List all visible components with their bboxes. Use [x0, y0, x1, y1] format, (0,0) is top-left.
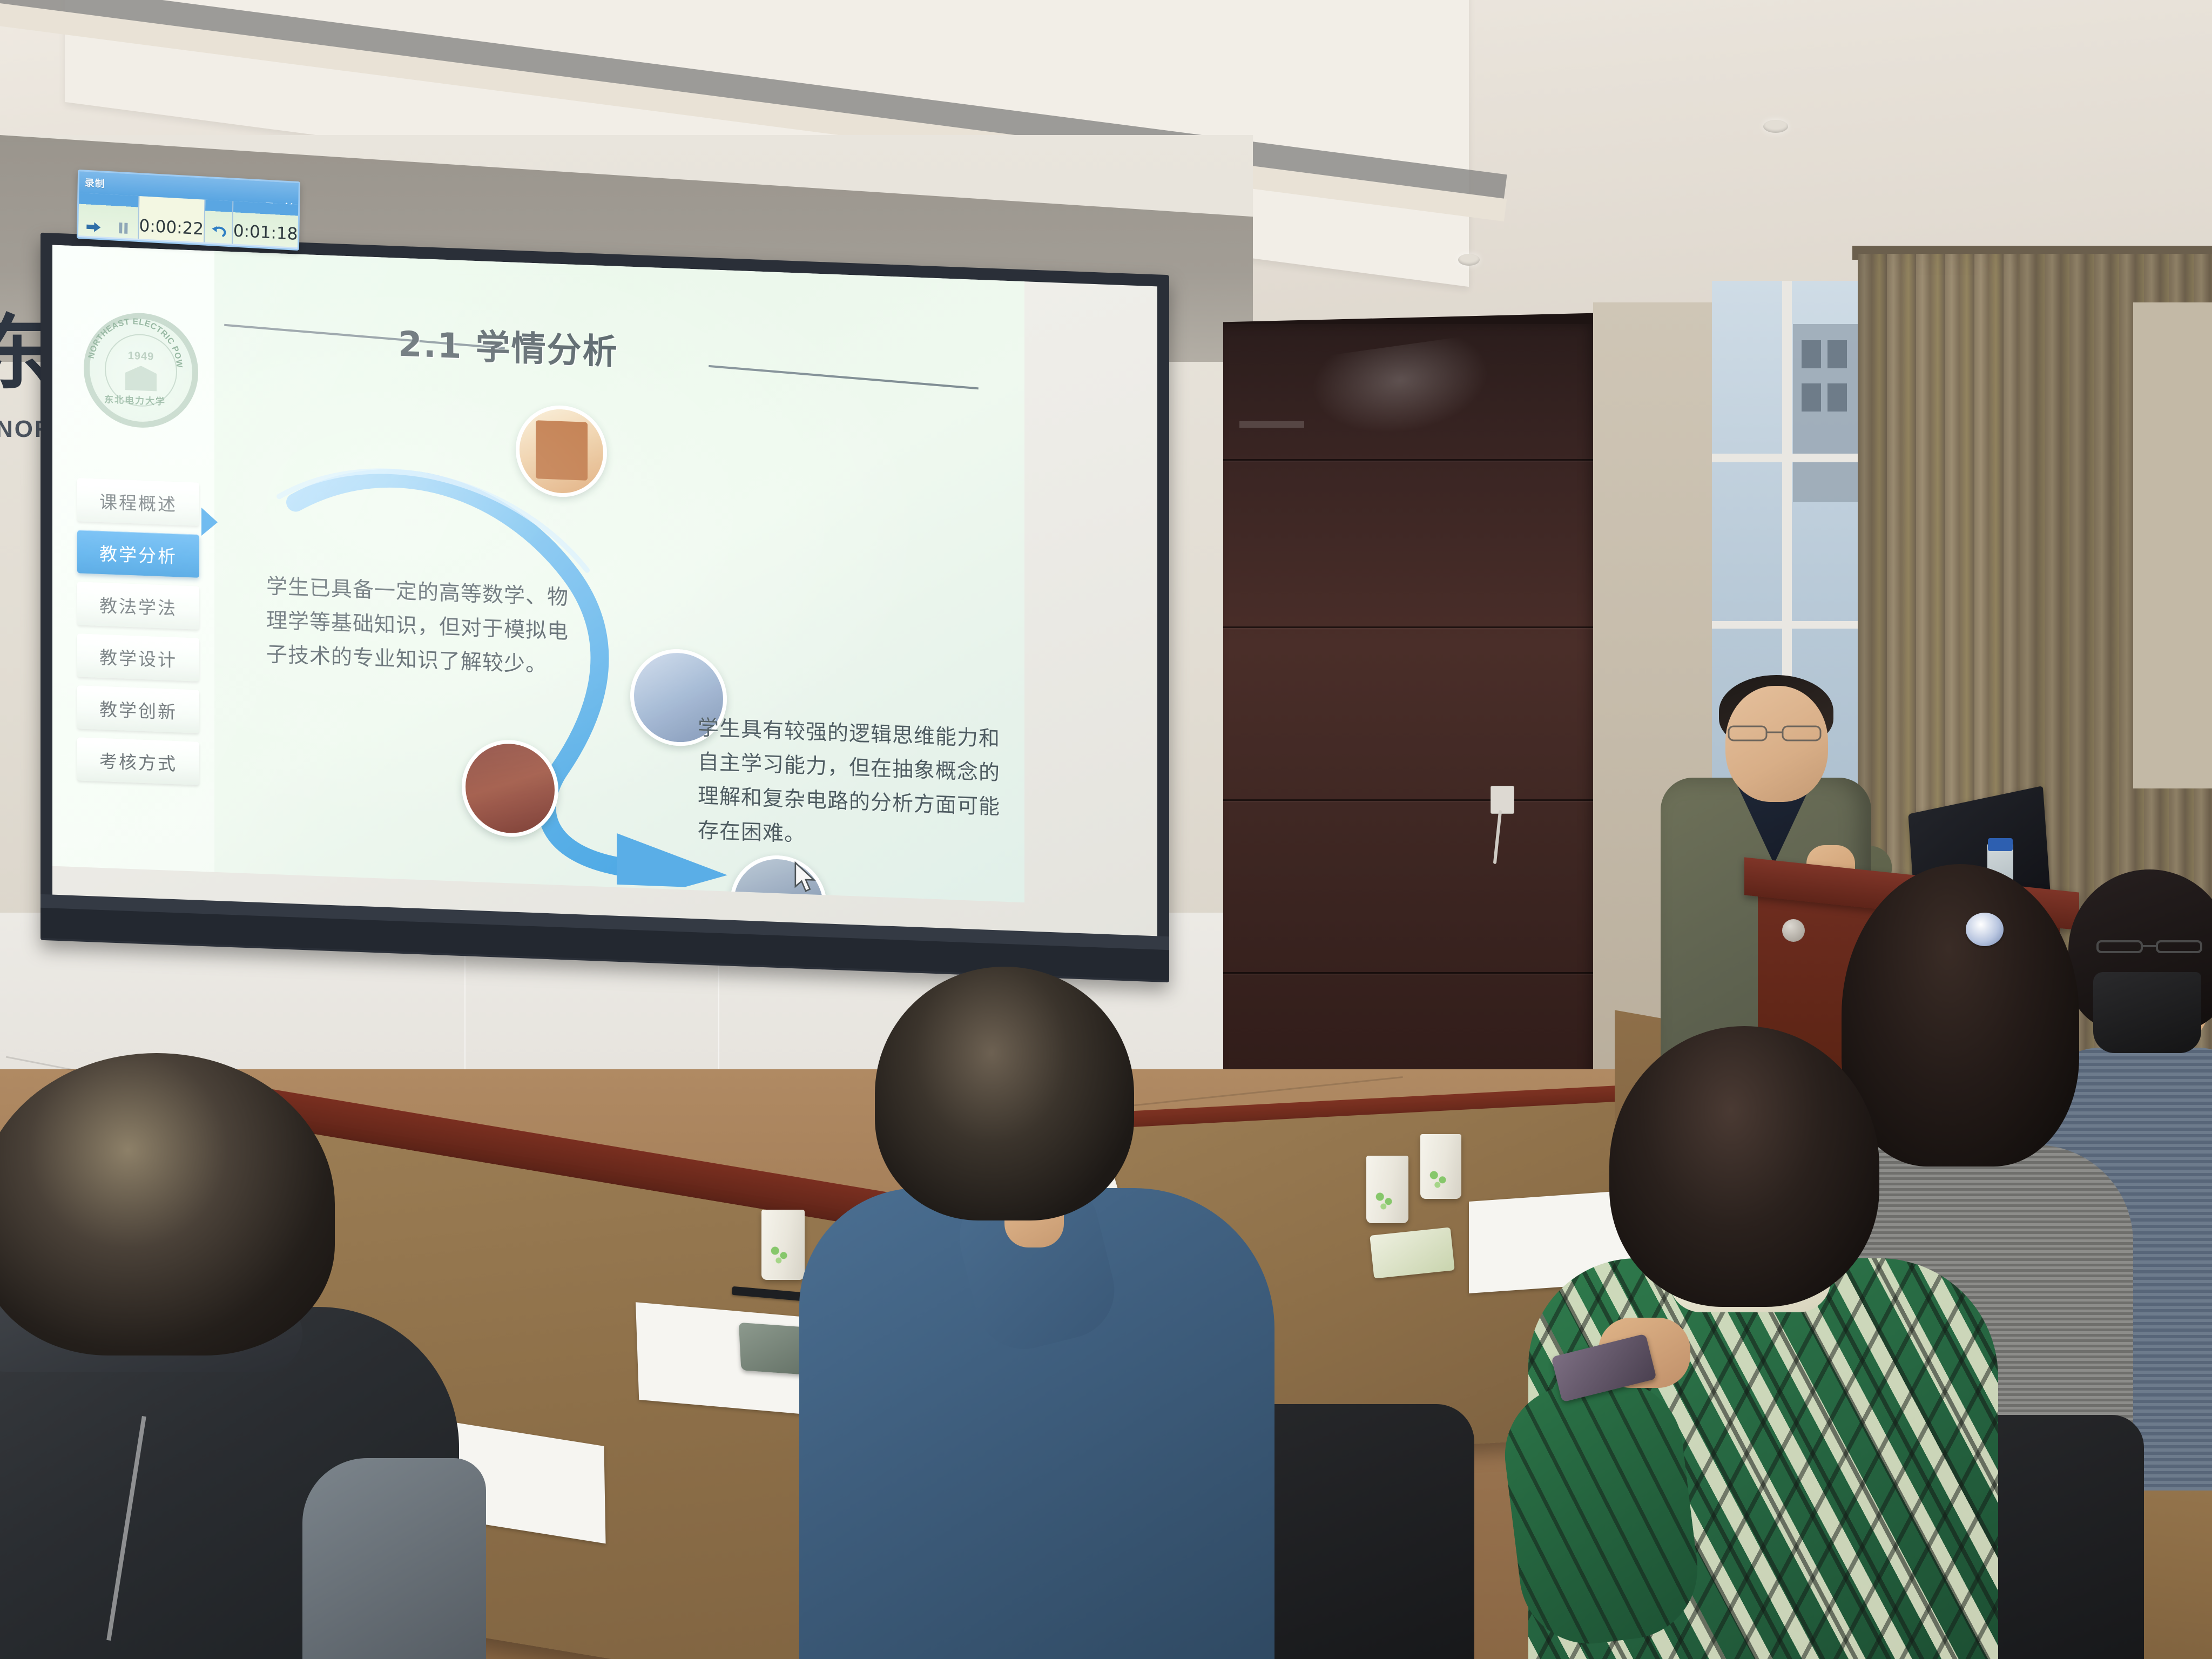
- paper-cup: [761, 1210, 805, 1280]
- pause-icon[interactable]: [109, 194, 140, 239]
- presenter-head: [1725, 686, 1828, 802]
- rehearsal-timer-toolbar[interactable]: 录制 ▼ ✕ 0:00:22 0:01:18: [77, 170, 300, 251]
- paper-cup: [1366, 1156, 1408, 1223]
- audience-front-left-man-sleeve: [302, 1458, 486, 1659]
- sidebar-item-teaching-innovation[interactable]: 教学创新: [77, 685, 199, 733]
- sidebar-item-teaching-design[interactable]: 教学设计: [77, 633, 199, 681]
- slide-nav-menu[interactable]: 课程概述 教学分析 教法学法 教学设计 教学创新 考核方式: [77, 478, 203, 794]
- audience-centre-man-hair: [875, 967, 1134, 1220]
- svg-text:NORTHEAST ELECTRIC POWER UNIVE: NORTHEAST ELECTRIC POWER UNIVERSITY: [84, 311, 184, 368]
- power-outlet-icon: [1491, 786, 1514, 814]
- mouse-pointer-icon: [793, 861, 818, 896]
- timer-toolbar-title: 录制: [85, 176, 105, 191]
- title-rule-right: [709, 365, 979, 389]
- right-far-wall: [2133, 302, 2212, 788]
- sidebar-item-course-overview[interactable]: 课程概述: [77, 478, 199, 525]
- downlight-icon: [1458, 254, 1480, 266]
- nav-active-pointer-icon: [201, 508, 218, 536]
- repeat-icon[interactable]: [205, 200, 234, 244]
- glasses-icon: [1727, 724, 1822, 742]
- podium-knob: [1782, 919, 1805, 942]
- water-bottle-cap: [1988, 838, 2013, 851]
- tissue-pack: [1370, 1227, 1455, 1278]
- audience-right-woman-plaid-hair: [1609, 1026, 1879, 1307]
- window-mullion: [1712, 454, 1869, 462]
- wood-panel-wall: [1223, 324, 1596, 1091]
- audience-right-woman-grey-hair: [1842, 864, 2079, 1166]
- screenshot-root: 东 NORT 1949: [0, 0, 2212, 1659]
- slide-paragraph-1: 学生已具备一定的高等数学、物理学等基础知识，但对于模拟电子技术的专业知识了解较少…: [266, 569, 585, 684]
- sidebar-item-teaching-methods[interactable]: 教法学法: [77, 582, 199, 629]
- sidebar-item-teaching-analysis[interactable]: 教学分析: [77, 530, 199, 577]
- paper-cup: [1420, 1134, 1461, 1199]
- glasses-icon: [2095, 940, 2203, 954]
- face-mask-icon: [2093, 972, 2201, 1053]
- presentation-slide: 1949 NORTHEAST ELECTRIC POWER UNIVERSITY…: [52, 245, 1024, 903]
- hair-clip: [1966, 913, 2004, 946]
- elapsed-time-display: 0:00:22: [139, 196, 205, 242]
- downlight-icon: [1763, 120, 1788, 133]
- total-time-display: 0:01:18: [233, 201, 298, 247]
- window-mullion: [1712, 621, 1869, 629]
- slide-paragraph-2: 学生具有较强的逻辑思维能力和自主学习能力，但在抽象概念的理解和复杂电路的分析方面…: [698, 711, 1011, 859]
- projection-screen: 1949 NORTHEAST ELECTRIC POWER UNIVERSITY…: [41, 233, 1169, 982]
- next-slide-icon[interactable]: [78, 193, 109, 237]
- sidebar-item-assessment-method[interactable]: 考核方式: [77, 737, 199, 785]
- slide-title: 2.1 学情分析: [398, 316, 618, 374]
